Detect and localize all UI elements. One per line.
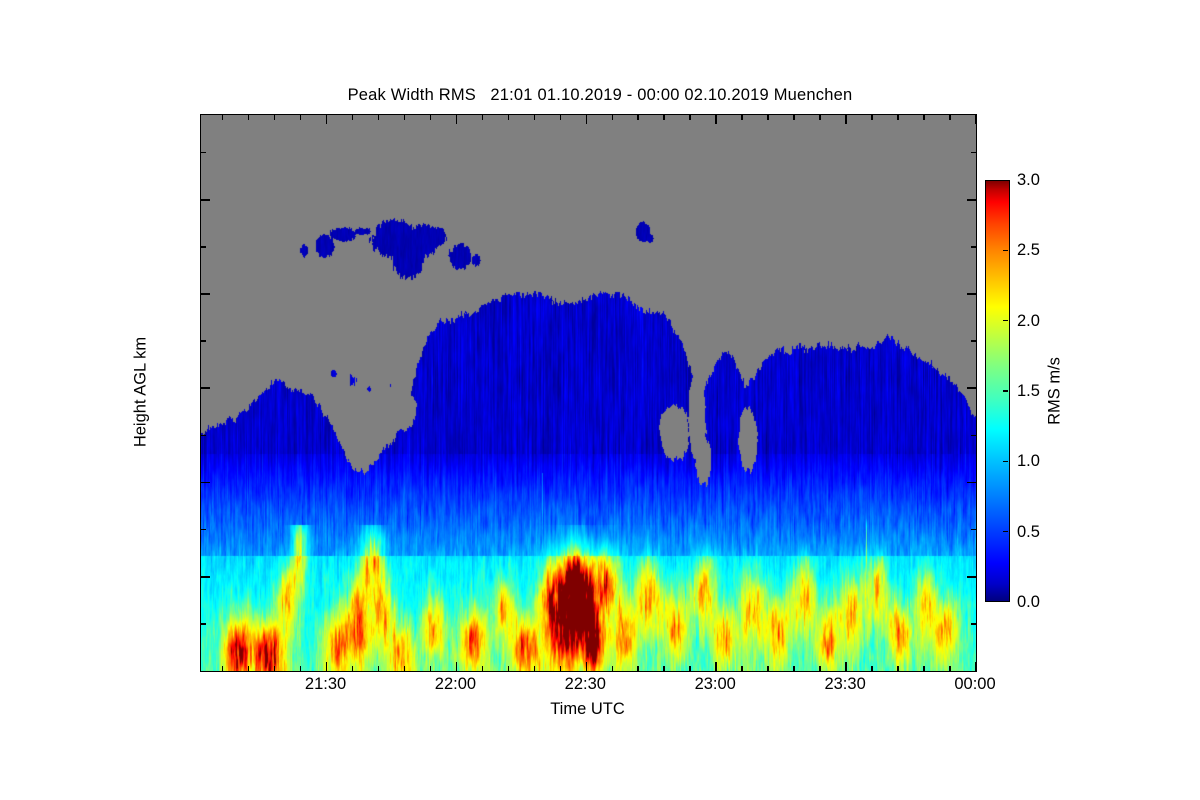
x-axis-tick-minor — [793, 666, 795, 671]
x-axis-tick-label: 21:30 — [266, 676, 386, 693]
x-axis-tick-minor — [767, 115, 769, 120]
x-axis-tick-major — [326, 662, 328, 671]
x-axis-tick-minor — [793, 115, 795, 120]
x-axis-tick-major — [586, 115, 588, 124]
x-axis-tick-label: 00:00 — [915, 676, 1035, 693]
x-axis-tick-minor — [612, 115, 614, 120]
x-axis-tick-minor — [819, 115, 821, 120]
x-axis-tick-label: 23:30 — [785, 676, 905, 693]
figure-canvas: Peak Width RMS 21:01 01.10.2019 - 00:00 … — [0, 0, 1200, 800]
x-axis-tick-minor — [482, 115, 484, 120]
x-axis-tick-minor — [897, 666, 899, 671]
colorbar-tick-label: 0.0 — [1017, 594, 1040, 611]
colorbar-tick — [1003, 320, 1008, 321]
colorbar-tick-label: 0.5 — [1017, 524, 1040, 541]
x-axis-tick-major — [456, 115, 458, 124]
x-axis-tick-major — [845, 115, 847, 124]
x-axis-tick-minor — [612, 666, 614, 671]
x-axis-tick-minor — [689, 115, 691, 120]
x-axis-tick-minor — [352, 666, 354, 671]
x-axis-tick-minor — [689, 666, 691, 671]
colorbar-tick-label: 1.0 — [1017, 453, 1040, 470]
x-axis-tick-minor — [560, 115, 562, 120]
y-axis-tick-minor — [201, 152, 206, 154]
colorbar-tick — [1003, 250, 1008, 251]
x-axis-tick-minor — [534, 666, 536, 671]
x-axis-tick-major — [975, 662, 977, 671]
x-axis-tick-minor — [819, 666, 821, 671]
y-axis-tick-minor — [971, 623, 976, 625]
x-axis-tick-minor — [534, 115, 536, 120]
x-axis-tick-minor — [871, 115, 873, 120]
x-axis-tick-major — [845, 662, 847, 671]
x-axis-tick-minor — [767, 666, 769, 671]
y-axis-tick-minor — [201, 623, 206, 625]
x-axis-tick-minor — [923, 115, 925, 120]
colorbar-tick-label: 2.0 — [1017, 313, 1040, 330]
y-axis-tick-major — [201, 387, 210, 389]
x-axis-tick-minor — [378, 115, 380, 120]
x-axis-tick-minor — [637, 115, 639, 120]
x-axis-tick-minor — [248, 115, 250, 120]
x-axis-tick-minor — [923, 666, 925, 671]
x-axis-tick-label: 22:00 — [395, 676, 515, 693]
y-axis-tick-minor — [971, 340, 976, 342]
colorbar — [985, 180, 1010, 602]
y-axis-title: Height AGL km — [132, 337, 151, 447]
plot-area — [200, 114, 977, 672]
y-axis-tick-major — [967, 576, 976, 578]
x-axis-tick-minor — [663, 666, 665, 671]
x-axis-tick-minor — [274, 115, 276, 120]
y-axis-tick-minor — [201, 340, 206, 342]
y-axis-tick-major — [967, 199, 976, 201]
y-axis-tick-minor — [971, 152, 976, 154]
x-axis-tick-major — [715, 115, 717, 124]
y-axis-tick-major — [201, 576, 210, 578]
colorbar-tick-label: 2.5 — [1017, 242, 1040, 259]
x-axis-tick-minor — [949, 115, 951, 120]
y-axis-tick-major — [201, 199, 210, 201]
x-axis-tick-minor — [741, 115, 743, 120]
x-axis-tick-label: 22:30 — [525, 676, 645, 693]
colorbar-tick — [1003, 390, 1008, 391]
x-axis-tick-minor — [222, 115, 224, 120]
colorbar-tick-label: 3.0 — [1017, 172, 1040, 189]
x-axis-tick-major — [326, 115, 328, 124]
y-axis-tick-minor — [971, 246, 976, 248]
x-axis-tick-minor — [508, 115, 510, 120]
colorbar-tick — [1003, 531, 1008, 532]
colorbar-tick-label: 1.5 — [1017, 383, 1040, 400]
x-axis-tick-minor — [663, 115, 665, 120]
x-axis-tick-minor — [222, 666, 224, 671]
x-axis-tick-minor — [430, 666, 432, 671]
y-axis-tick-major — [967, 387, 976, 389]
x-axis-tick-minor — [871, 666, 873, 671]
x-axis-tick-minor — [560, 666, 562, 671]
x-axis-tick-minor — [508, 666, 510, 671]
x-axis-title: Time UTC — [200, 700, 975, 719]
y-axis-tick-minor — [971, 529, 976, 531]
y-axis-tick-minor — [201, 529, 206, 531]
x-axis-tick-minor — [248, 666, 250, 671]
y-axis-tick-major — [967, 482, 976, 484]
x-axis-tick-minor — [378, 666, 380, 671]
colorbar-title: RMS m/s — [1046, 357, 1065, 425]
x-axis-tick-major — [975, 115, 977, 124]
y-axis-tick-major — [201, 482, 210, 484]
x-axis-tick-minor — [352, 115, 354, 120]
x-axis-tick-minor — [404, 666, 406, 671]
x-axis-tick-minor — [482, 666, 484, 671]
x-axis-tick-minor — [897, 115, 899, 120]
y-axis-tick-minor — [201, 435, 206, 437]
x-axis-tick-minor — [404, 115, 406, 120]
x-axis-tick-minor — [637, 666, 639, 671]
x-axis-tick-minor — [274, 666, 276, 671]
x-axis-tick-minor — [430, 115, 432, 120]
y-axis-tick-minor — [971, 435, 976, 437]
x-axis-tick-minor — [949, 666, 951, 671]
x-axis-tick-minor — [300, 666, 302, 671]
x-axis-tick-minor — [300, 115, 302, 120]
colorbar-tick — [1003, 461, 1008, 462]
y-axis-tick-minor — [201, 246, 206, 248]
page-title: Peak Width RMS 21:01 01.10.2019 - 00:00 … — [0, 86, 1200, 105]
y-axis-tick-major — [967, 293, 976, 295]
x-axis-tick-major — [456, 662, 458, 671]
x-axis-tick-label: 23:00 — [655, 676, 775, 693]
x-axis-tick-minor — [741, 666, 743, 671]
x-axis-tick-major — [715, 662, 717, 671]
y-axis-tick-major — [201, 293, 210, 295]
heatmap-data-canvas — [201, 115, 976, 671]
x-axis-tick-major — [586, 662, 588, 671]
